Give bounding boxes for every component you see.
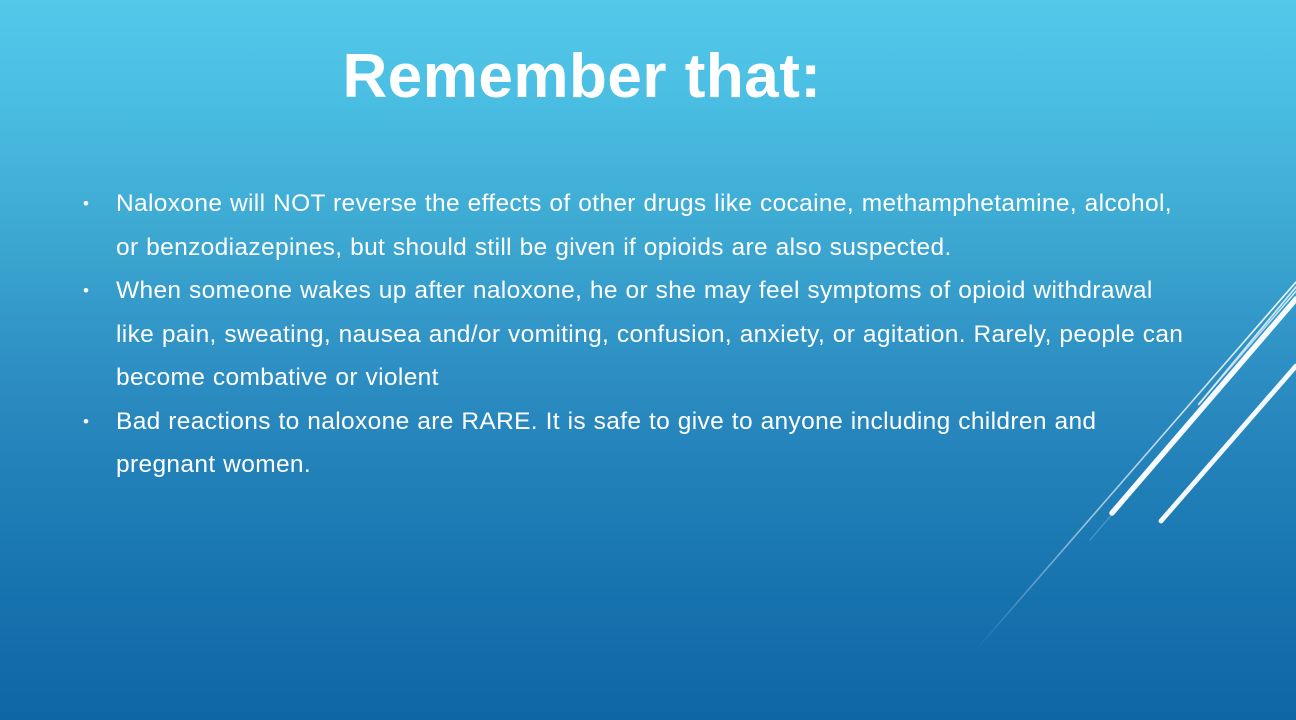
list-item-text: When someone wakes up after naloxone, he… xyxy=(116,269,1188,400)
streak-thin-upper xyxy=(1199,287,1296,404)
bullet-point-icon: • xyxy=(83,400,99,444)
streak-hairline-mid xyxy=(1198,292,1296,405)
list-item-text: Bad reactions to naloxone are RARE. It i… xyxy=(116,400,1188,487)
bullet-point-icon: • xyxy=(83,269,99,313)
list-item: • When someone wakes up after naloxone, … xyxy=(78,269,1188,400)
bullet-point-icon: • xyxy=(83,182,99,226)
list-item: • Bad reactions to naloxone are RARE. It… xyxy=(78,400,1188,487)
slide-canvas: Remember that: • Naloxone will NOT rever… xyxy=(0,0,1296,720)
streak-hairline-short xyxy=(1196,291,1296,408)
list-item: • Naloxone will NOT reverse the effects … xyxy=(78,182,1188,269)
list-item-text: Naloxone will NOT reverse the effects of… xyxy=(116,182,1188,269)
bullet-list: • Naloxone will NOT reverse the effects … xyxy=(78,182,1188,487)
slide-title: Remember that: xyxy=(0,44,1164,109)
